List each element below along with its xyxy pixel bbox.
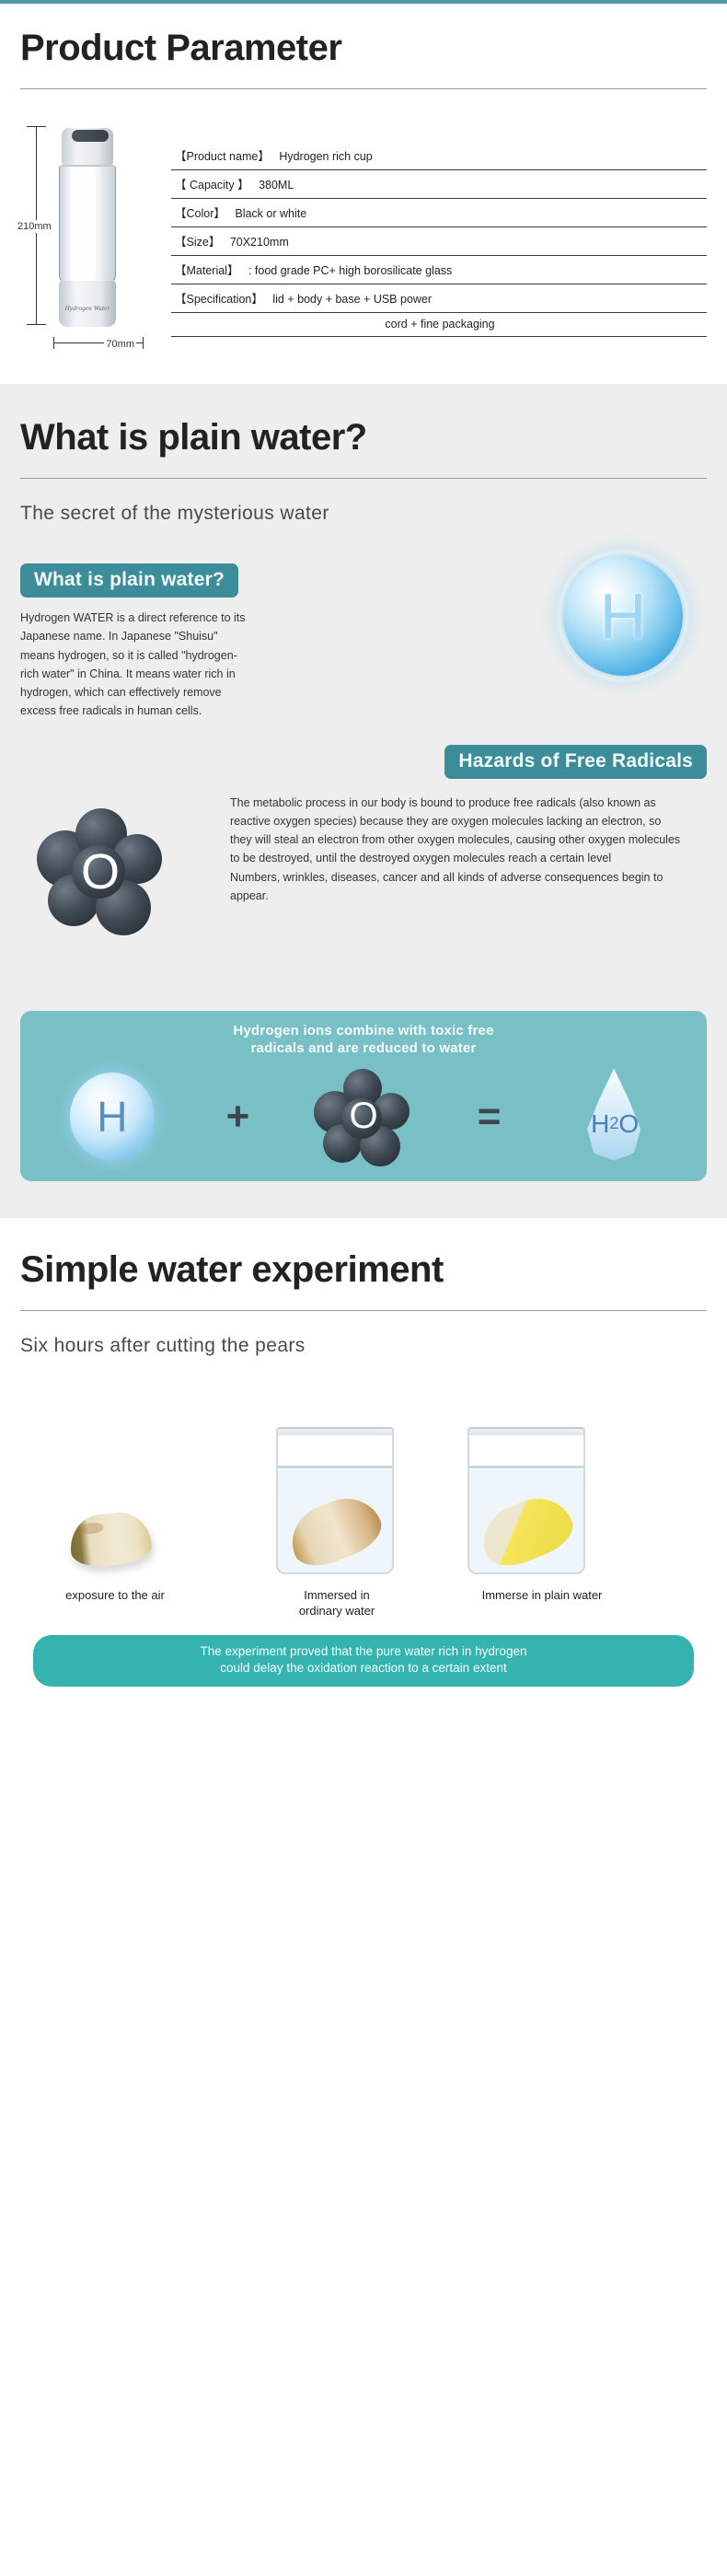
- plain-water-divider: [20, 478, 707, 479]
- glass-plain-water-image: [467, 1427, 585, 1574]
- spec-value: 70X210mm: [230, 236, 289, 249]
- glass-rim: [469, 1429, 583, 1435]
- pear-slice-air-image: [67, 1509, 153, 1569]
- glass-ordinary-water-image: [276, 1427, 394, 1574]
- bottle-lid-handle: [72, 130, 109, 142]
- spec-value: : food grade PC+ high borosilicate glass: [248, 264, 452, 277]
- spec-row: 【Material】 : food grade PC+ high borosil…: [171, 256, 707, 284]
- spec-key: 【Product name】: [175, 150, 270, 163]
- experiment-title: Simple water experiment: [20, 1249, 707, 1290]
- equation-hydrogen-icon: H: [61, 1067, 164, 1166]
- pear-slice-yellow: [473, 1487, 580, 1573]
- product-parameter-body: 210mm Hydrogen Water 70mm 【Product name】…: [20, 121, 707, 351]
- spec-value: Hydrogen rich cup: [279, 150, 372, 163]
- spec-key: 【Size】: [175, 236, 220, 249]
- spec-value: lid + body + base + USB power: [272, 293, 432, 306]
- spec-continuation: cord + fine packaging: [171, 313, 707, 337]
- spec-key: 【Material】: [175, 264, 238, 277]
- experiment-images: [20, 1374, 707, 1585]
- glass-waterline: [278, 1466, 392, 1468]
- experiment-subtitle: Six hours after cutting the pears: [20, 1335, 707, 1357]
- experiment-section: Simple water experiment Six hours after …: [0, 1218, 727, 1696]
- experiment-divider: [20, 1310, 707, 1311]
- title-divider: [20, 88, 707, 89]
- product-parameter-section: Product Parameter 210mm Hydrogen Water 7…: [0, 4, 727, 384]
- bottle-figure: 210mm Hydrogen Water 70mm: [20, 121, 158, 351]
- oxygen-cluster-icon: O: [31, 803, 169, 941]
- plain-water-block: What is plain water? H Hydrogen WATER is…: [20, 563, 707, 721]
- glass-rim: [278, 1429, 392, 1435]
- equation-banner-title: Hydrogen ions combine with toxic free ra…: [29, 1022, 698, 1058]
- spec-row: 【 Capacity 】 380ML: [171, 170, 707, 199]
- plain-water-section: What is plain water? The secret of the m…: [0, 384, 727, 1218]
- experiment-conclusion-banner: The experiment proved that the pure wate…: [33, 1635, 694, 1687]
- plus-operator: +: [226, 1097, 250, 1137]
- pear-slice-brown: [282, 1487, 388, 1573]
- bottle-brand-text: Hydrogen Water: [59, 305, 116, 312]
- bottle-base: Hydrogen Water: [59, 281, 116, 327]
- hazards-tag: Hazards of Free Radicals: [444, 745, 707, 779]
- equals-operator: =: [478, 1097, 502, 1137]
- caption-plain-water: Immerse in plain water: [436, 1587, 648, 1604]
- equation-oxygen-icon: O: [312, 1067, 415, 1166]
- equation-row: H + O = H2O: [29, 1065, 698, 1168]
- equation-oxygen-label: O: [312, 1067, 415, 1166]
- equation-water-drop-icon: H2O: [563, 1067, 666, 1166]
- spec-row: 【Specification】 lid + body + base + USB …: [171, 284, 707, 313]
- hazards-paragraph: The metabolic process in our body is bou…: [230, 794, 707, 906]
- specification-list: 【Product name】 Hydrogen rich cup 【 Capac…: [171, 121, 707, 337]
- bottle-image: Hydrogen Water: [57, 128, 118, 327]
- bottle-glass-body: [59, 165, 116, 284]
- spec-value: Black or white: [235, 207, 306, 220]
- plain-water-title: What is plain water?: [20, 417, 707, 458]
- bottle-height-label: 210mm: [16, 220, 53, 233]
- hazards-block: O The metabolic process in our body is b…: [20, 794, 707, 987]
- orb-letter-h: H: [554, 547, 692, 685]
- water-sub-2: 2: [609, 1114, 618, 1133]
- spec-row: 【Size】 70X210mm: [171, 227, 707, 256]
- bottle-width-label: 70mm: [104, 339, 136, 350]
- spec-key: 【Specification】: [175, 293, 263, 306]
- hydrogen-orb-icon: H: [554, 547, 692, 685]
- equation-banner: Hydrogen ions combine with toxic free ra…: [20, 1011, 707, 1181]
- plain-water-tag: What is plain water?: [20, 563, 238, 598]
- equation-hydrogen-label: H: [61, 1067, 164, 1166]
- cluster-letter-o: O: [31, 803, 169, 941]
- spec-key: 【Color】: [175, 207, 225, 220]
- water-h: H: [591, 1109, 609, 1139]
- page-title: Product Parameter: [20, 28, 707, 68]
- caption-exposure-to-air: exposure to the air: [28, 1587, 202, 1604]
- spec-row: 【Color】 Black or white: [171, 199, 707, 227]
- spec-row: 【Product name】 Hydrogen rich cup: [171, 145, 707, 170]
- caption-ordinary-water: Immersed in ordinary water: [250, 1587, 423, 1619]
- equation-water-label: H2O: [563, 1067, 666, 1166]
- water-o: O: [618, 1109, 639, 1139]
- spec-key: 【 Capacity 】: [175, 179, 249, 191]
- glass-waterline: [469, 1466, 583, 1468]
- experiment-captions: exposure to the air Immersed in ordinary…: [20, 1587, 707, 1630]
- plain-water-subtitle: The secret of the mysterious water: [20, 503, 707, 525]
- plain-water-paragraph: Hydrogen WATER is a direct reference to …: [20, 609, 252, 721]
- spec-value: 380ML: [259, 179, 294, 191]
- hazards-tag-wrap: Hazards of Free Radicals: [20, 745, 707, 779]
